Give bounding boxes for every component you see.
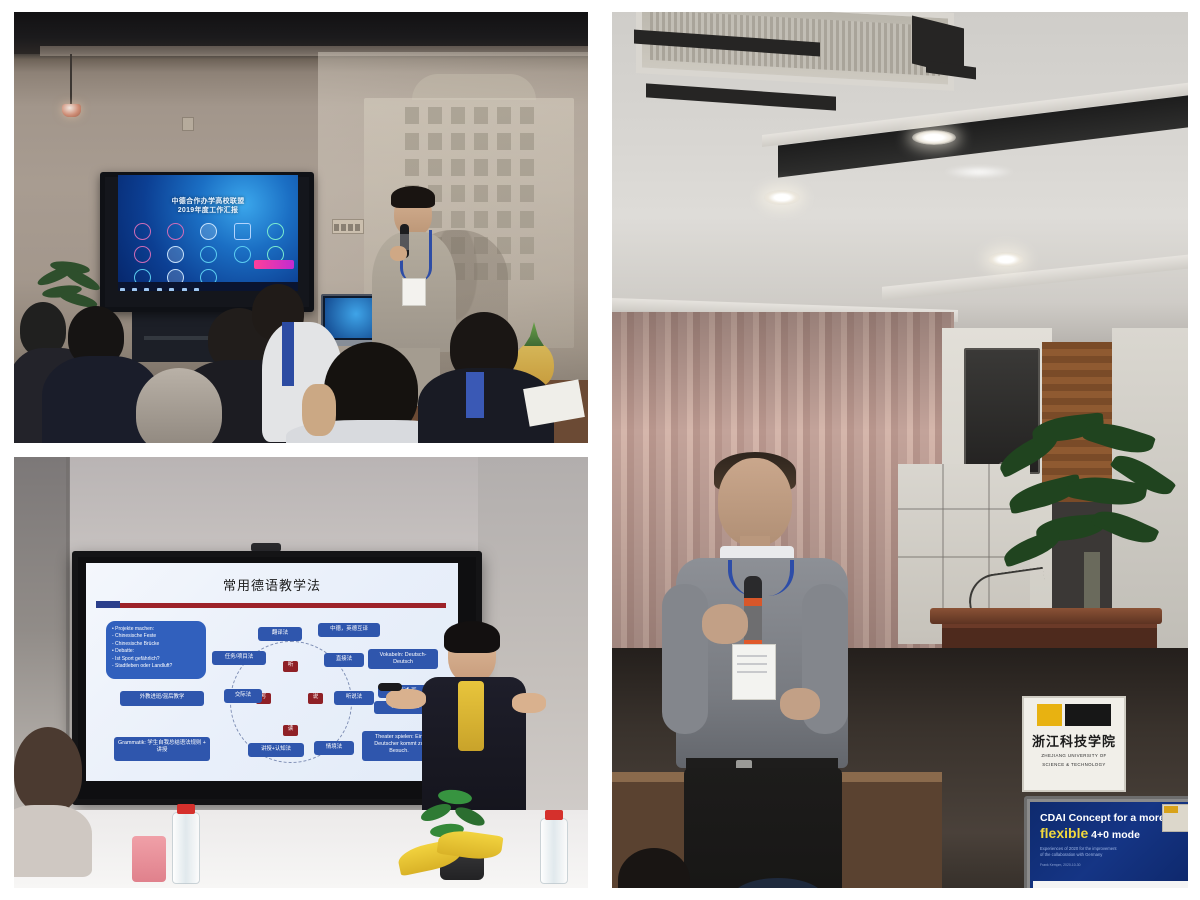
slide-footer-band: CDAI [1033, 881, 1188, 888]
cdai-slide: CDAI Concept for a more flexible 4+0 mod… [1030, 802, 1188, 888]
podium-top [930, 608, 1162, 624]
logo-icon [134, 246, 151, 263]
photo-right-lecture-hall: 浙江科技学院 ZHEJIANG UNIVERSITY OF SCIENCE & … [612, 12, 1188, 888]
cdai-subtitle-line1: Experiences of 2020 for the improvement [1030, 842, 1188, 852]
wall-outlet-icon [332, 219, 364, 234]
logo-icon [267, 223, 284, 240]
pink-cup [132, 836, 166, 882]
university-logo-sign: 浙江科技学院 ZHEJIANG UNIVERSITY OF SCIENCE & … [1022, 696, 1126, 792]
wall-switch-icon [182, 117, 194, 131]
logo-icon [200, 223, 217, 240]
center-node-listening: 听 [283, 661, 298, 672]
logo-marks [1028, 704, 1120, 726]
slide-title-line1: 中德合作办学高校联盟 [118, 197, 298, 206]
university-name-english-line2: SCIENCE & TECHNOLOGY [1028, 762, 1120, 768]
presenter-hand-right [512, 693, 546, 713]
photo-collage: 中德合作办学高校联盟 2019年度工作汇报 [0, 0, 1200, 900]
logo-icon [167, 223, 184, 240]
method-node-audiolingual: 听说法 [334, 691, 374, 705]
speaker-hand-right [780, 688, 820, 720]
taskbar-icon [120, 288, 125, 291]
annotation-foreign-teacher: 外教进班/混后教学 [120, 691, 204, 706]
photo-topleft-conference-presentation: 中德合作办学高校联盟 2019年度工作汇报 [14, 12, 588, 443]
slide-accent-square [96, 601, 120, 608]
speaker-head [718, 458, 792, 546]
taskbar-icon [157, 288, 162, 291]
slide-thumbnail [1162, 804, 1188, 832]
speaker-badge [402, 278, 426, 306]
method-node-situational: 情境法 [314, 741, 354, 755]
speaker-arm-left [662, 584, 708, 734]
center-node-speaking: 说 [308, 693, 323, 704]
slide-accent-bar [98, 603, 446, 608]
downlight-icon [912, 130, 956, 145]
projected-building-roof [412, 74, 536, 100]
taskbar-icon [182, 288, 187, 291]
audience-torso [14, 805, 92, 877]
presenter-hand-left [386, 689, 426, 709]
slide-title: 中德合作办学高校联盟 2019年度工作汇报 [118, 197, 298, 215]
pendant-lamp-icon [62, 104, 81, 117]
wall-corner [66, 457, 69, 757]
logo-black-block [1065, 704, 1111, 726]
center-node-reading: 读 [283, 725, 298, 736]
presentation-screen: 中德合作办学高校联盟 2019年度工作汇报 [118, 175, 298, 291]
member-university-logos [128, 223, 290, 286]
logo-yellow-block [1037, 704, 1062, 726]
handheld-microphone-icon [744, 576, 762, 652]
presenter-clicker-icon [378, 683, 402, 691]
taskbar-icon [132, 288, 137, 291]
logo-icon [134, 223, 151, 240]
audience-lanyard [282, 322, 294, 386]
presenter-hair [444, 621, 500, 653]
pendant-lamp-cord [70, 54, 72, 106]
downlight-icon [764, 190, 800, 205]
logo-icon [234, 246, 251, 263]
slide-title-line2: 2019年度工作汇报 [118, 206, 298, 215]
annotation-translation-pairs: 中德，英德互译 [318, 623, 380, 637]
photo-bottomleft-teaching-methods-lecture: » 常用德语教学法 听 说 读 写 翻译法 直接法 听说法 情境法 讲授+认知法 [14, 457, 588, 888]
audience-hand [302, 384, 336, 436]
logo-icon [234, 223, 251, 240]
annotation-projekte-debatte: • Projekte machen: - Chinesische Feste -… [106, 621, 206, 679]
annotation-grammatik: Grammatik: 学生自我总结语法规则 + 讲授 [114, 737, 210, 761]
speaker-hair [391, 186, 435, 208]
speaker-trousers [684, 768, 842, 888]
bottle-cap [177, 804, 195, 814]
method-node-translation: 翻译法 [258, 627, 302, 641]
university-name-chinese: 浙江科技学院 [1028, 731, 1120, 750]
logo-icon [200, 246, 217, 263]
logo-icon [167, 246, 184, 263]
slide-title: 常用德语教学法 [86, 563, 458, 594]
audience-head [14, 727, 82, 813]
conference-badge [732, 644, 776, 700]
taskbar-icon [194, 288, 199, 291]
presentation-monitor-bezel: CDAI Concept for a more flexible 4+0 mod… [1024, 796, 1188, 888]
cdai-headline-rest: 4+0 mode [1091, 829, 1140, 841]
water-bottle [540, 818, 568, 884]
speaker-hand-left [702, 604, 748, 644]
speaker-hand [390, 246, 407, 261]
slide-badge [254, 260, 294, 269]
slot-light-glow [944, 166, 1014, 178]
teaching-methods-slide: 常用德语教学法 听 说 读 写 翻译法 直接法 听说法 情境法 讲授+认知法 交… [86, 563, 458, 781]
bottle-cap [545, 810, 563, 820]
method-node-task-project: 任务/项目法 [212, 651, 266, 665]
taskbar-icon [144, 288, 149, 291]
downlight-icon [988, 252, 1024, 267]
method-node-direct: 直接法 [324, 653, 364, 667]
cdai-footnote: Frank Kempm, 2020-10-30 [1030, 857, 1188, 867]
audience-necktie [466, 372, 484, 418]
cdai-headline-highlight: flexible [1040, 825, 1088, 841]
water-bottle [172, 812, 200, 884]
taskbar-icon [169, 288, 174, 291]
speaker-person [658, 458, 878, 888]
foreground-table [14, 810, 588, 888]
method-node-communicative: 交际法 [224, 689, 262, 703]
presenter-scarf [458, 681, 484, 751]
method-node-cognitive: 讲授+认知法 [248, 743, 304, 757]
university-name-english-line1: ZHEJIANG UNIVERSITY OF [1028, 753, 1120, 759]
